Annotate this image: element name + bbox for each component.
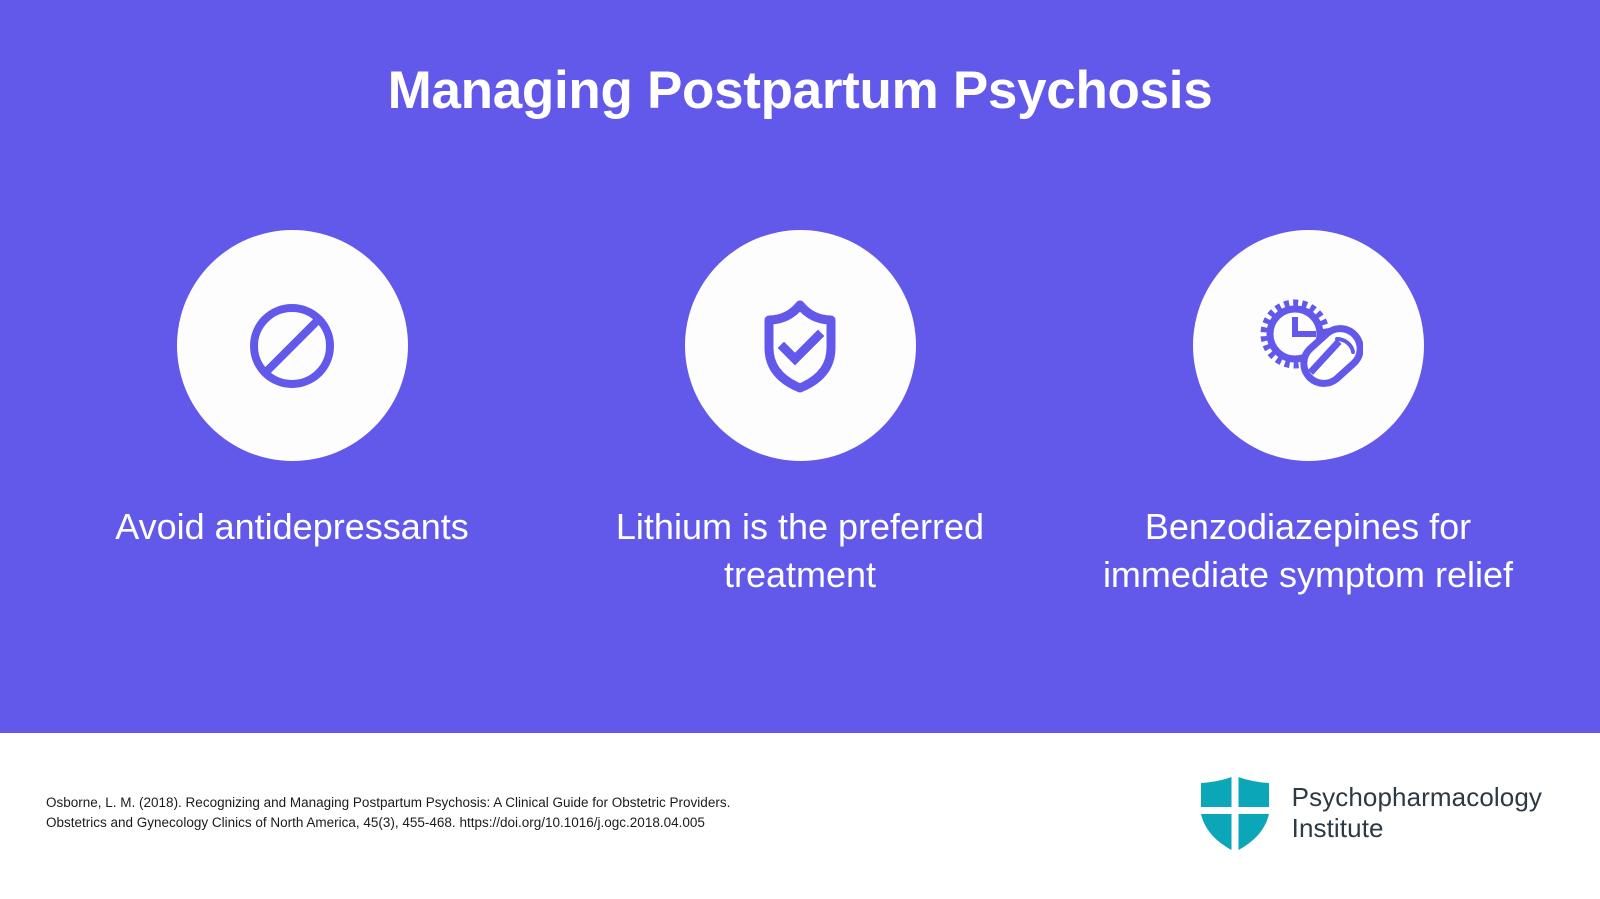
citation-text: Osborne, L. M. (2018). Recognizing and M… <box>46 793 876 832</box>
icon-circle-3 <box>1193 230 1424 461</box>
brand-lockup: Psychopharmacology Institute <box>1195 771 1542 855</box>
clock-pill-icon <box>1253 292 1363 400</box>
card-lithium-preferred: Lithium is the preferred treatment <box>546 230 1054 599</box>
card-row: Avoid antidepressants Lithium is the pre… <box>0 230 1600 599</box>
shield-quadrant-logo-icon <box>1195 771 1275 855</box>
icon-circle-1 <box>177 230 408 461</box>
footer-bar: Osborne, L. M. (2018). Recognizing and M… <box>0 733 1600 899</box>
card-label-3: Benzodiazepines for immediate symptom re… <box>1088 503 1528 599</box>
card-label-2: Lithium is the preferred treatment <box>580 503 1020 599</box>
brand-name-line-2: Institute <box>1292 813 1542 844</box>
icon-circle-2 <box>685 230 916 461</box>
citation-line-1: Osborne, L. M. (2018). Recognizing and M… <box>46 793 876 813</box>
citation-line-2: Obstetrics and Gynecology Clinics of Nor… <box>46 813 876 833</box>
brand-name-line-1: Psychopharmacology <box>1292 782 1542 813</box>
card-label-1: Avoid antidepressants <box>72 503 512 551</box>
prohibited-icon <box>244 298 340 394</box>
hero-panel: Managing Postpartum Psychosis Avoid anti… <box>0 0 1600 733</box>
brand-name: Psychopharmacology Institute <box>1292 782 1542 843</box>
card-benzodiazepines-relief: Benzodiazepines for immediate symptom re… <box>1054 230 1562 599</box>
page-title: Managing Postpartum Psychosis <box>0 62 1600 120</box>
shield-check-icon <box>750 296 850 396</box>
slide: Managing Postpartum Psychosis Avoid anti… <box>0 0 1600 899</box>
card-avoid-antidepressants: Avoid antidepressants <box>38 230 546 551</box>
